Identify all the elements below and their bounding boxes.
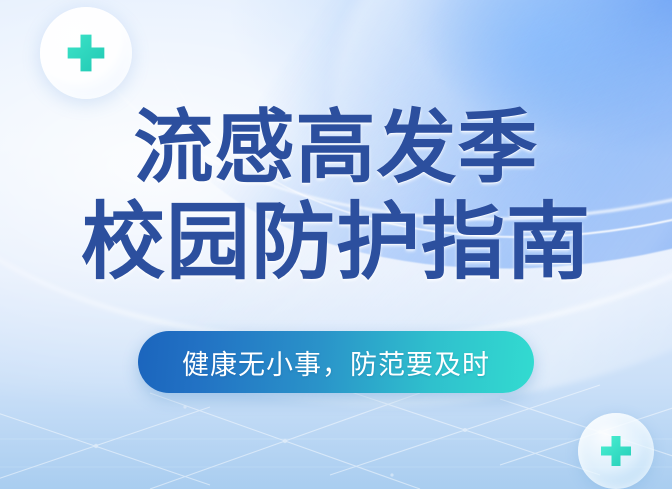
headline-line-1: 流感高发季 bbox=[0, 104, 672, 192]
subtitle-text: 健康无小事，防范要及时 bbox=[182, 343, 490, 382]
poster-headline: 流感高发季 校园防护指南 bbox=[0, 104, 672, 288]
subtitle-pill: 健康无小事，防范要及时 bbox=[138, 331, 534, 393]
badge-bottom-right bbox=[578, 413, 654, 489]
headline-line-2: 校园防护指南 bbox=[0, 196, 672, 288]
badge-top-left bbox=[40, 7, 132, 99]
flu-prevention-poster: 流感高发季 校园防护指南 健康无小事，防范要及时 bbox=[0, 0, 672, 489]
medical-cross-icon bbox=[64, 31, 108, 75]
medical-cross-icon bbox=[598, 433, 634, 469]
